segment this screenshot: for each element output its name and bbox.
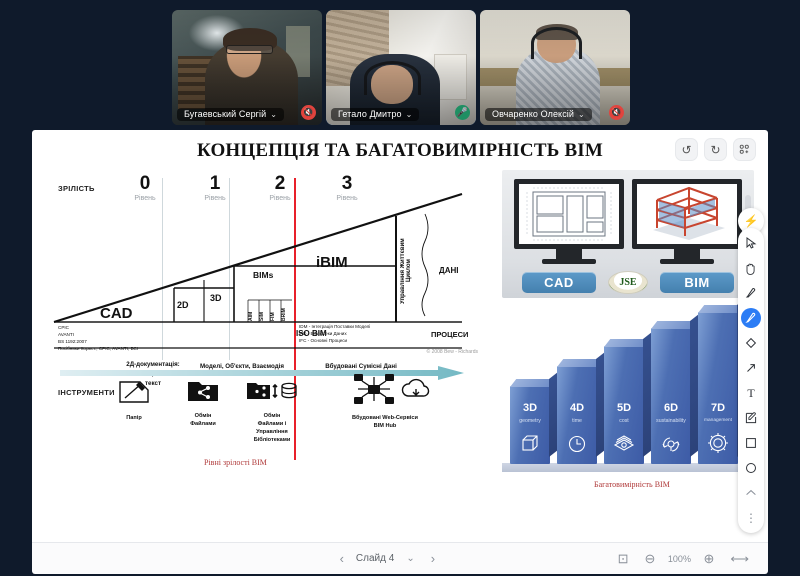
stage-processes-label: ПРОЦЕСИ — [431, 330, 468, 339]
paper-pencil-icon — [117, 378, 151, 406]
expand-button[interactable]: ⟷ — [723, 551, 756, 567]
floor-plan-drawing — [519, 184, 619, 244]
page-title: КОНЦЕПЦІЯ ТА БАГАТОВИМІРНІСТЬ BIM — [32, 140, 768, 162]
acronym-brim: BRIM — [281, 301, 287, 321]
bim-maturity-diagram: ЗРІЛІСТЬ ІНСТРУМЕНТИ 0 Рівень 1 Рівень 2… — [44, 170, 484, 500]
arrow-icon[interactable] — [741, 358, 761, 378]
bar-sublabel: management — [698, 418, 738, 423]
chevron-down-icon[interactable]: ⌄ — [578, 110, 585, 119]
acronym-sim: SIM — [259, 301, 265, 321]
slide-indicator: Слайд 4 — [353, 553, 397, 564]
diagram-copyright: © 2008 Bew - Richards — [427, 349, 478, 355]
bar-5d: 5D cost — [604, 346, 644, 464]
tool-file-exchange: Обмін Файлами — [174, 378, 232, 428]
chevron-down-icon[interactable]: ⌄ — [270, 110, 277, 119]
structural-3d-model — [637, 184, 737, 244]
zoom-in-button[interactable]: ⊕ — [696, 551, 721, 567]
bar-label: 3D — [510, 402, 550, 414]
web-services-cloud-icon — [340, 372, 430, 406]
hand-icon[interactable] — [741, 258, 761, 278]
slide-navigation: ‹ Слайд 4 ⌄ › — [333, 551, 442, 566]
chevron-down-icon[interactable]: ⌄ — [406, 110, 413, 119]
collapse-icon[interactable] — [741, 483, 761, 503]
stage-3d-label: 3D — [210, 293, 222, 303]
add-slide-button[interactable] — [733, 138, 756, 161]
zoom-controls: ⊡ ⊖ 100% ⊕ ⟷ — [611, 551, 756, 567]
bar-label: 5D — [604, 402, 644, 414]
bar-sublabel: time — [557, 418, 597, 424]
slide-dropdown-icon[interactable]: ⌄ — [399, 553, 421, 564]
previous-slide-button[interactable]: ‹ — [333, 551, 351, 566]
bim-screen — [632, 179, 742, 249]
participant-video-strip: Бугаевський Сергій ⌄ 🔇 Гетало Дмитро ⌄ 🎤… — [172, 10, 630, 125]
whiteboard-slide-canvas[interactable]: КОНЦЕПЦІЯ ТА БАГАТОВИМІРНІСТЬ BIM ↺ ↻ ЗР… — [32, 130, 768, 542]
zoom-out-button[interactable]: ⊖ — [638, 551, 663, 567]
left-caption: Рівні зрілості BIM — [204, 458, 267, 467]
cursor-icon[interactable] — [741, 233, 761, 253]
cad-screen — [514, 179, 624, 249]
right-caption: Багатовимірність BIM — [594, 480, 670, 489]
maturity-triangle — [44, 170, 484, 350]
bar-sublabel: cost — [604, 418, 644, 424]
stage-data-label: ДАНІ — [439, 266, 458, 275]
bar-7d: 7D management — [698, 312, 738, 464]
more-options-icon[interactable]: ⋮ — [741, 508, 761, 528]
participant-name-chip[interactable]: Гетало Дмитро ⌄ — [331, 108, 419, 121]
pen-icon[interactable] — [741, 308, 761, 328]
tool-caption: Обмін Файлами — [174, 412, 232, 428]
annotation-toolbar: T ⋮ — [738, 228, 764, 533]
stage-2d-label: 2D — [177, 300, 189, 310]
acronym-fim: FIM — [270, 301, 276, 321]
text-icon[interactable]: T — [741, 383, 761, 403]
money-icon — [613, 434, 635, 457]
bim-label-tag: BIM — [660, 272, 734, 293]
cube-icon — [520, 434, 540, 459]
cad-vs-bim-image: CAD JSE BIM — [502, 170, 754, 298]
eraser-icon[interactable] — [741, 333, 761, 353]
participant-name: Бугаевський Сергій — [184, 109, 266, 119]
highlighter-icon[interactable] — [741, 283, 761, 303]
standards-left-text: CPIC AVANTI BS 1192:2007 Посібники Корис… — [58, 324, 233, 352]
ellipse-icon[interactable] — [741, 458, 761, 478]
file-library-icon — [246, 378, 298, 404]
redo-button[interactable]: ↻ — [704, 138, 727, 161]
mic-muted-icon: 🔇 — [301, 105, 316, 120]
participant-tile[interactable]: Гетало Дмитро ⌄ 🎤 — [326, 10, 476, 125]
tool-file-library: Обмін Файлами і Управління Бібліотеками — [240, 378, 304, 444]
bar-sublabel: sustainability — [651, 418, 691, 424]
next-slide-button[interactable]: › — [424, 551, 442, 566]
stage-lifecycle-label: Управління Життєвим Циклом — [400, 226, 412, 316]
cad-label-tag: CAD — [522, 272, 596, 293]
acronym-aim: AIM — [248, 301, 254, 321]
rectangle-icon[interactable] — [741, 433, 761, 453]
bar-3d: 3D geometry — [510, 386, 550, 464]
cad-monitor — [514, 179, 624, 265]
chart-baseline — [502, 463, 754, 472]
participant-name-chip[interactable]: Бугаевський Сергій ⌄ — [177, 108, 284, 121]
slide-action-buttons: ↺ ↻ — [675, 138, 756, 161]
participant-tile[interactable]: Бугаевський Сергій ⌄ 🔇 — [172, 10, 322, 125]
bim-dimensions-bar-chart: 3D geometry 4D time 5D cost — [502, 310, 754, 472]
mic-active-icon: 🎤 — [455, 105, 470, 120]
leaf-cycle-icon — [660, 434, 682, 459]
stage-bims-label: BIMs — [253, 270, 273, 280]
participant-name: Овчаренко Олексій — [492, 109, 574, 119]
undo-button[interactable]: ↺ — [675, 138, 698, 161]
tool-paper: Папір — [104, 378, 164, 422]
bim-dimensions-panel: CAD JSE BIM 3D geometry 4D time — [502, 170, 754, 500]
tool-caption: Обмін Файлами і Управління Бібліотеками — [240, 412, 304, 444]
bar-6d: 6D sustainability — [651, 328, 691, 464]
standards-right-text: IDM - Інтеграція Поставки Моделі IFD - Б… — [299, 323, 394, 344]
tool-caption: Папір — [104, 414, 164, 422]
bar-4d: 4D time — [557, 366, 597, 464]
tool-web-services: Вбудовані Web-Сервіси BIM Hub — [330, 372, 440, 430]
bar-sublabel: geometry — [510, 418, 550, 424]
mic-muted-icon: 🔇 — [609, 105, 624, 120]
stage-ibim-label: iBIM — [316, 254, 348, 271]
fit-to-screen-button[interactable]: ⊡ — [611, 551, 636, 567]
bar-label: 7D — [698, 402, 738, 414]
slide-footer-bar: ‹ Слайд 4 ⌄ › ⊡ ⊖ 100% ⊕ ⟷ — [32, 542, 768, 574]
jse-logo: JSE — [608, 271, 648, 294]
participant-tile[interactable]: Овчаренко Олексій ⌄ 🔇 — [480, 10, 630, 125]
clock-icon — [567, 434, 587, 459]
zoom-level-value: 100% — [664, 554, 694, 564]
stage-cad-label: CAD — [100, 305, 133, 322]
bar-label: 6D — [651, 402, 691, 414]
gear-icon — [707, 432, 729, 459]
bar-label: 4D — [557, 402, 597, 414]
participant-name-chip[interactable]: Овчаренко Олексій ⌄ — [485, 108, 592, 121]
bim-monitor — [632, 179, 742, 265]
file-share-icon — [187, 378, 219, 404]
note-icon[interactable] — [741, 408, 761, 428]
participant-name: Гетало Дмитро — [338, 109, 402, 119]
tool-caption: Вбудовані Web-Сервіси BIM Hub — [330, 414, 440, 430]
